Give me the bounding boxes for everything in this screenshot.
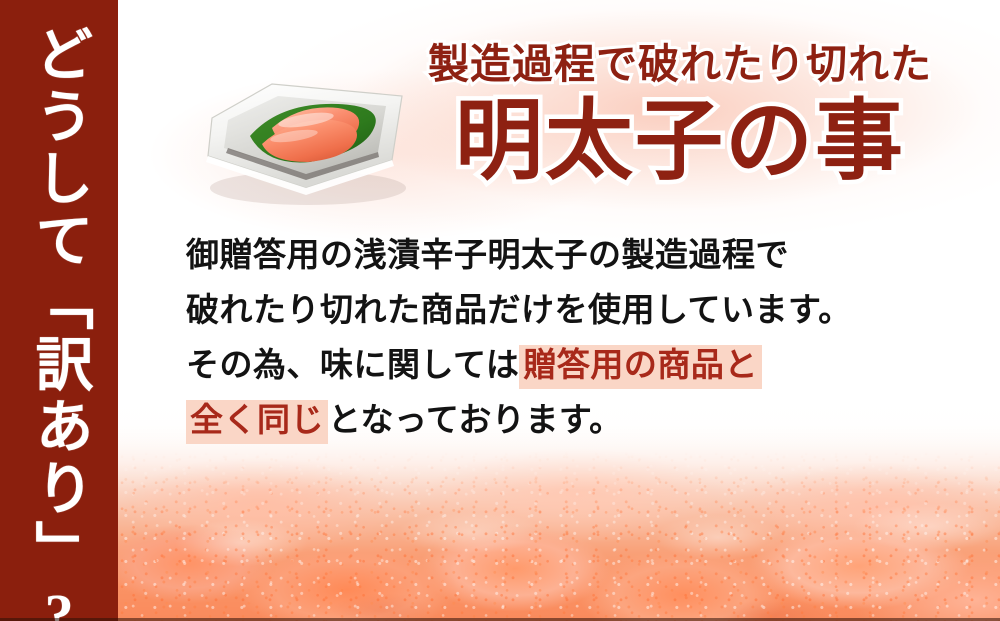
page-title: 明太子の事 [400,97,960,185]
mentaiko-tray-photo [188,56,420,214]
body-line-4-text: となっております。 [328,403,623,439]
promo-banner: 製造過程で破れたり切れた 明太子の事 御贈答用の浅漬辛子明太子の製造過程で 破れ… [0,0,1000,621]
body-line-4: 全く同じとなっております。 [186,394,976,449]
highlight-gift-equivalent: 贈答用の商品と [519,345,762,389]
side-band-vertical-label: どうして「訳あり」? [29,24,88,621]
body-line-3: その為、味に関しては贈答用の商品と [186,339,976,394]
body-copy: 御贈答用の浅漬辛子明太子の製造過程で 破れたり切れた商品だけを使用しています。 … [186,229,976,449]
body-line-2: 破れたり切れた商品だけを使用しています。 [186,284,976,339]
body-line-3-text: その為、味に関しては [186,348,519,384]
body-line-1: 御贈答用の浅漬辛子明太子の製造過程で [186,229,976,284]
highlight-exactly-same: 全く同じ [186,400,328,444]
headline-subline: 製造過程で破れたり切れた [400,44,960,85]
headline-block: 製造過程で破れたり切れた 明太子の事 [400,30,960,200]
side-band: どうして「訳あり」? [0,0,118,621]
